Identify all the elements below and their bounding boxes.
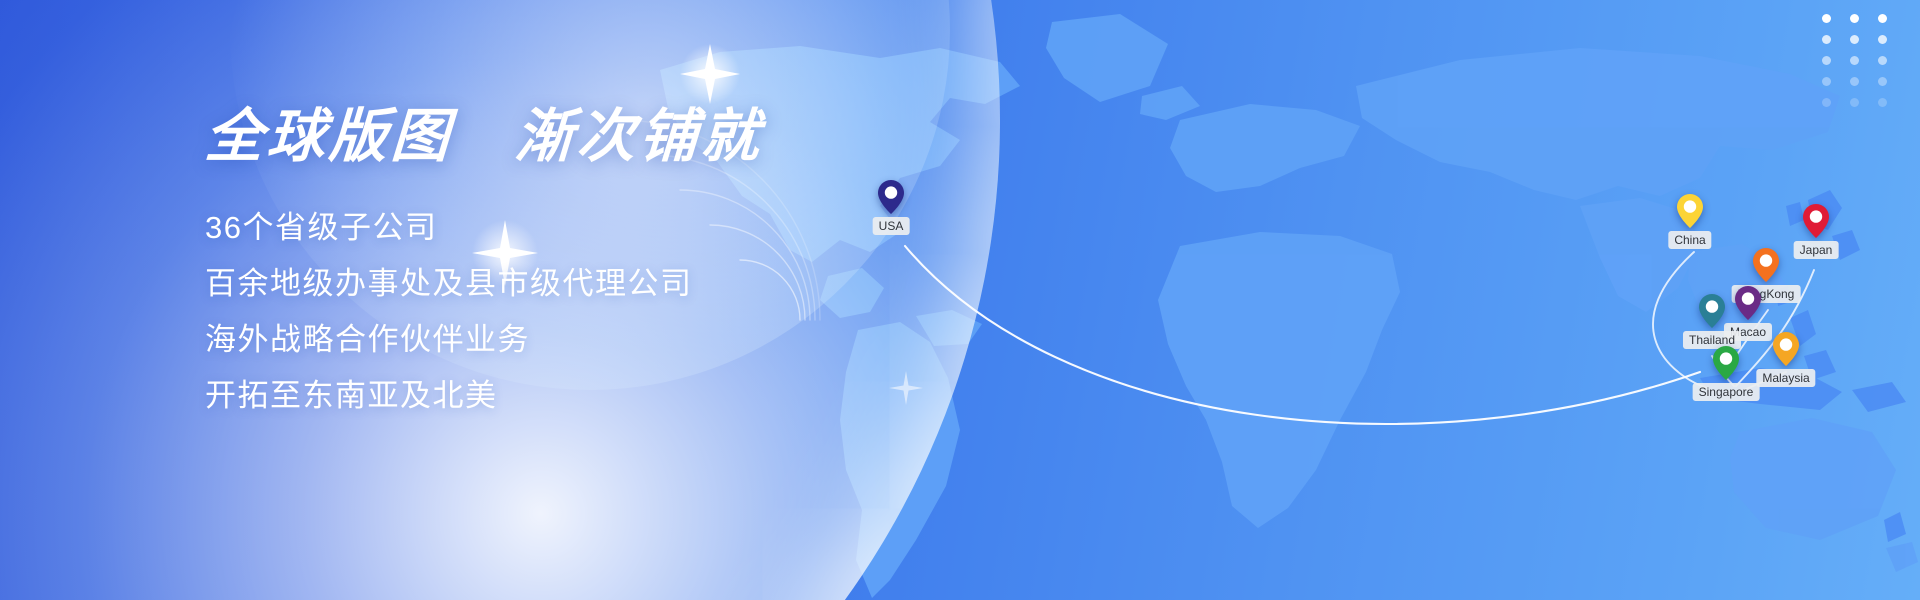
map-pin-label: China bbox=[1668, 231, 1711, 249]
location-pin-icon bbox=[1713, 346, 1739, 380]
headline-line: 海外战略合作伙伴业务 bbox=[205, 312, 1025, 368]
global-map-banner: USAChinaJapanHongKongMacaoThailandSingap… bbox=[0, 0, 1920, 600]
map-pin-singapore[interactable]: Singapore bbox=[1713, 346, 1739, 380]
map-pin-hongkong[interactable]: HongKong bbox=[1753, 248, 1779, 282]
map-pin-china[interactable]: China bbox=[1677, 194, 1703, 228]
map-pin-label: Malaysia bbox=[1756, 369, 1815, 387]
page-title: 全球版图 渐次铺就 bbox=[203, 108, 1026, 166]
headline-line: 百余地级办事处及县市级代理公司 bbox=[205, 256, 1025, 312]
location-pin-icon bbox=[1699, 294, 1725, 328]
map-pin-thailand[interactable]: Thailand bbox=[1699, 294, 1725, 328]
map-pin-japan[interactable]: Japan bbox=[1803, 204, 1829, 238]
map-pin-label: Singapore bbox=[1693, 383, 1760, 401]
headline-block: 全球版图 渐次铺就 36个省级子公司 百余地级办事处及县市级代理公司 海外战略合… bbox=[205, 108, 1025, 424]
map-pin-malaysia[interactable]: Malaysia bbox=[1773, 332, 1799, 366]
headline-line: 36个省级子公司 bbox=[205, 200, 1025, 256]
location-pin-icon bbox=[1677, 194, 1703, 228]
map-pin-macao[interactable]: Macao bbox=[1735, 286, 1761, 320]
location-pin-icon bbox=[1735, 286, 1761, 320]
headline-line: 开拓至东南亚及北美 bbox=[205, 368, 1025, 424]
dot-grid-decoration bbox=[1822, 14, 1894, 107]
location-pin-icon bbox=[1803, 204, 1829, 238]
headline-line-list: 36个省级子公司 百余地级办事处及县市级代理公司 海外战略合作伙伴业务 开拓至东… bbox=[205, 200, 1025, 424]
map-pin-label: Japan bbox=[1794, 241, 1839, 259]
location-pin-icon bbox=[1773, 332, 1799, 366]
location-pin-icon bbox=[1753, 248, 1779, 282]
